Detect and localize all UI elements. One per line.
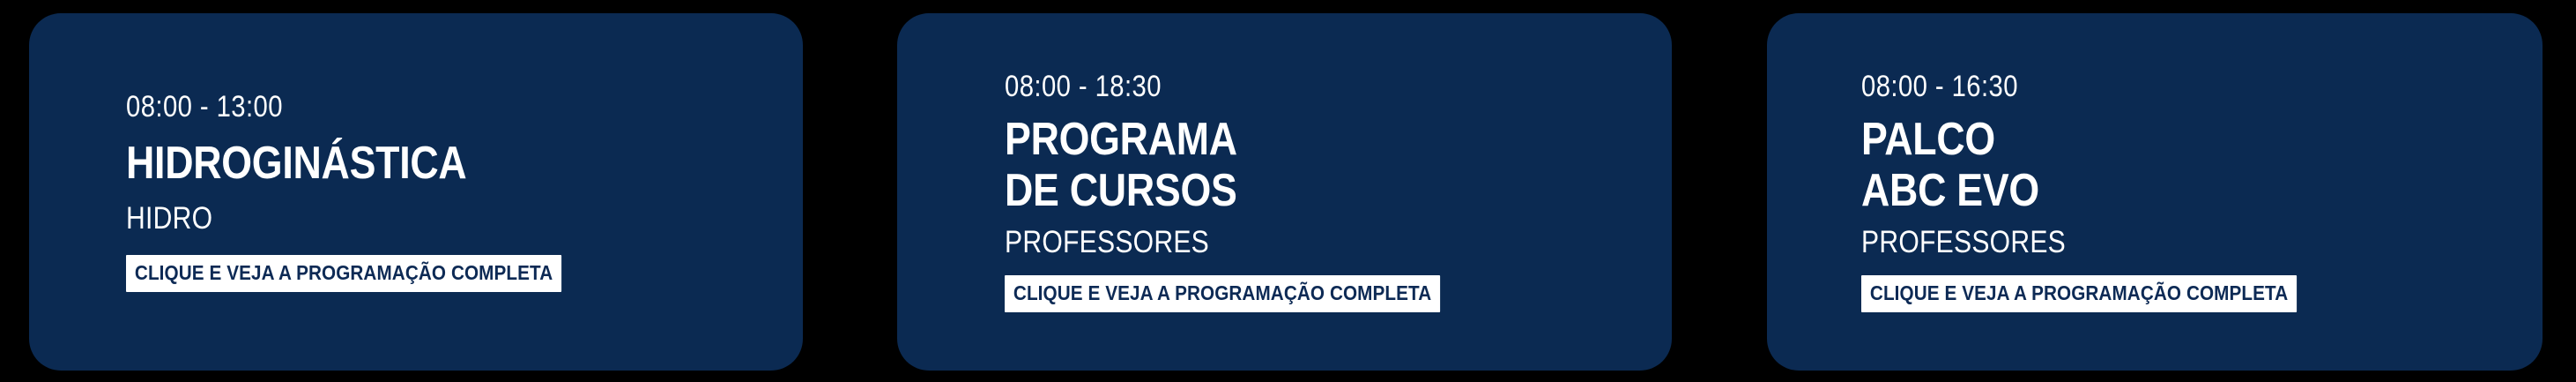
schedule-title: PALCO ABC EVO bbox=[1861, 114, 2039, 216]
schedule-card-content: 08:00 - 13:00 HIDROGINÁSTICA HIDRO CLIQU… bbox=[29, 92, 803, 292]
view-full-schedule-button[interactable]: CLIQUE E VEJA A PROGRAMAÇÃO COMPLETA bbox=[1861, 275, 2297, 312]
schedule-time: 08:00 - 18:30 bbox=[1005, 71, 1162, 101]
view-full-schedule-button[interactable]: CLIQUE E VEJA A PROGRAMAÇÃO COMPLETA bbox=[126, 255, 561, 292]
schedule-time: 08:00 - 16:30 bbox=[1861, 71, 2018, 101]
schedule-time: 08:00 - 13:00 bbox=[126, 92, 283, 122]
schedule-title: HIDROGINÁSTICA bbox=[126, 138, 466, 189]
schedule-subtitle: PROFESSORES bbox=[1005, 227, 1209, 258]
schedule-card[interactable]: 08:00 - 16:30 PALCO ABC EVO PROFESSORES … bbox=[1767, 13, 2543, 371]
schedule-cards-row: 08:00 - 13:00 HIDROGINÁSTICA HIDRO CLIQU… bbox=[0, 0, 2576, 382]
schedule-title: PROGRAMA DE CURSOS bbox=[1005, 114, 1237, 216]
schedule-card-content: 08:00 - 18:30 PROGRAMA DE CURSOS PROFESS… bbox=[897, 71, 1672, 312]
schedule-subtitle: HIDRO bbox=[126, 203, 212, 234]
view-full-schedule-button[interactable]: CLIQUE E VEJA A PROGRAMAÇÃO COMPLETA bbox=[1005, 275, 1440, 312]
schedule-card[interactable]: 08:00 - 13:00 HIDROGINÁSTICA HIDRO CLIQU… bbox=[29, 13, 803, 371]
schedule-card-content: 08:00 - 16:30 PALCO ABC EVO PROFESSORES … bbox=[1767, 71, 2543, 312]
schedule-subtitle: PROFESSORES bbox=[1861, 227, 2066, 258]
schedule-card[interactable]: 08:00 - 18:30 PROGRAMA DE CURSOS PROFESS… bbox=[897, 13, 1672, 371]
